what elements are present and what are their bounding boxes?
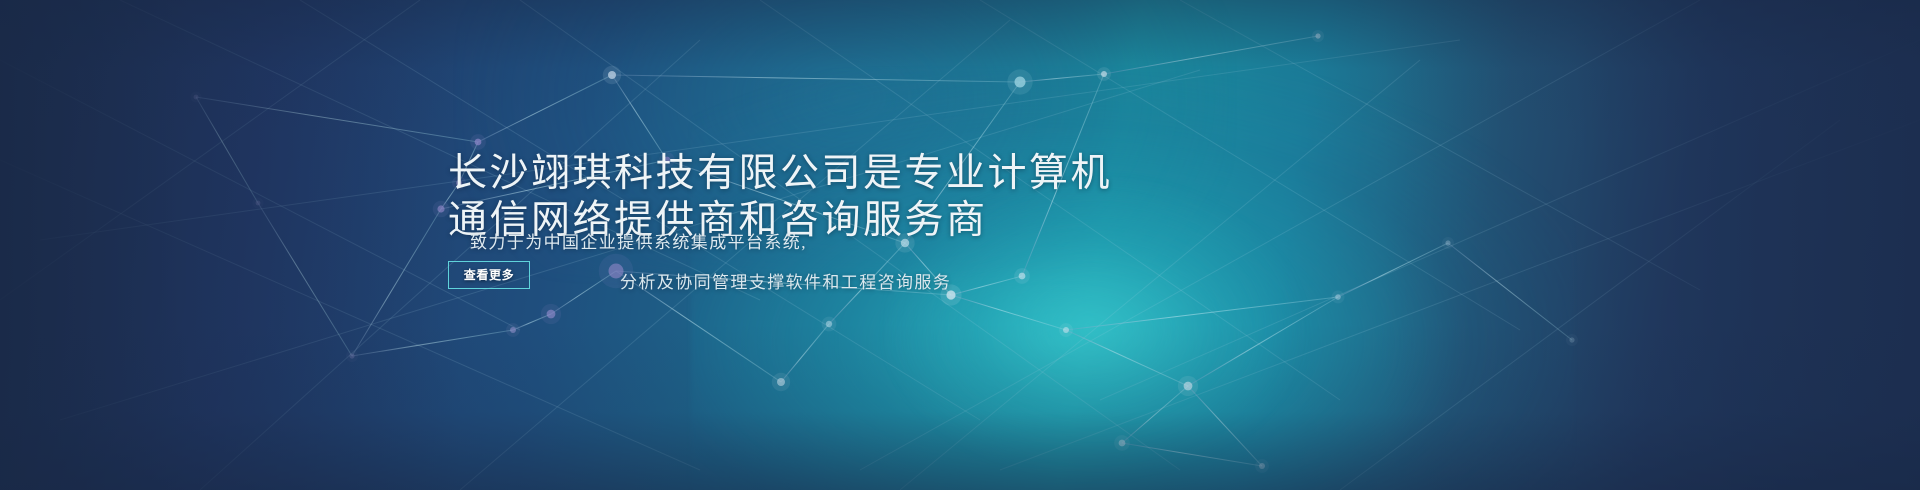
banner-subtitle-line-1: 致力于为中国企业提供系统集成平台系统, xyxy=(470,231,807,255)
view-more-button[interactable]: 查看更多 xyxy=(448,261,530,289)
hero-banner: 长沙翊琪科技有限公司是专业计算机 通信网络提供商和咨询服务商 致力于为中国企业提… xyxy=(0,0,1920,490)
headline-line-1: 长沙翊琪科技有限公司是专业计算机 xyxy=(448,150,1048,197)
banner-content: 长沙翊琪科技有限公司是专业计算机 通信网络提供商和咨询服务商 致力于为中国企业提… xyxy=(0,0,1920,490)
banner-subtitle-line-2: 分析及协同管理支撑软件和工程咨询服务 xyxy=(620,271,951,295)
